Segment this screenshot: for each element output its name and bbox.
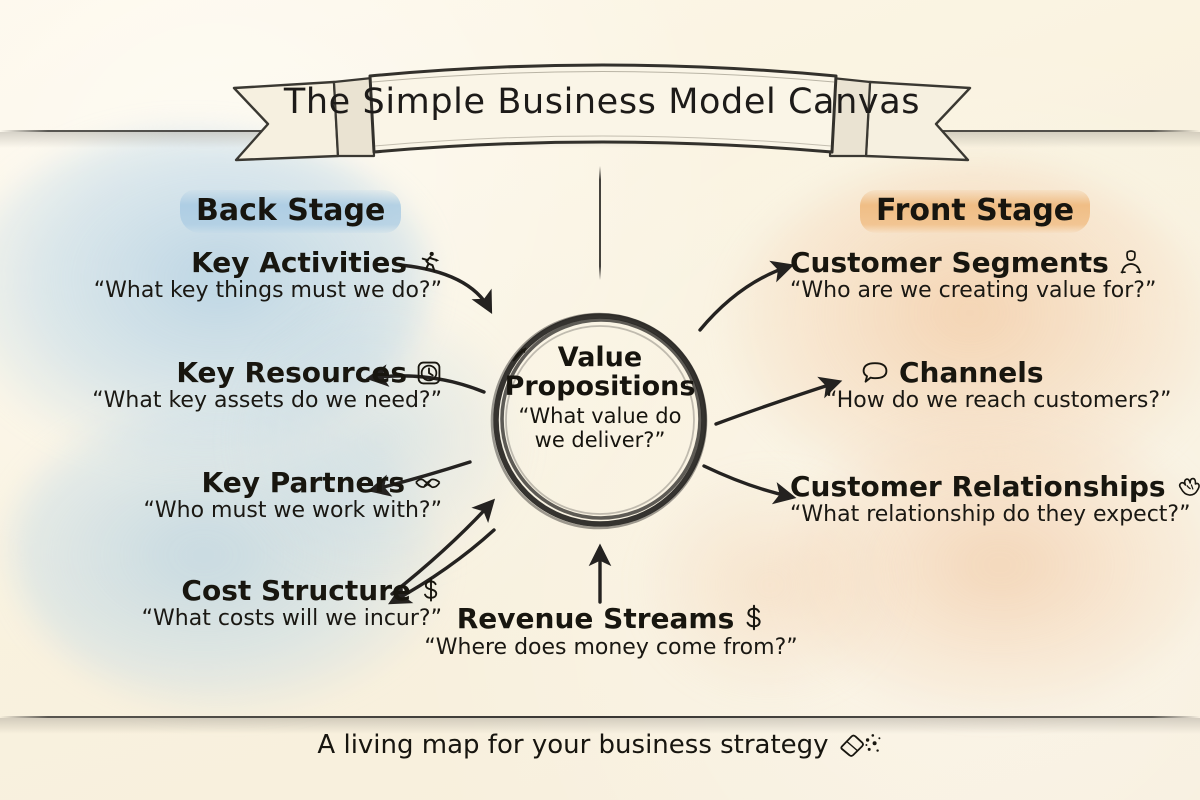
page-title: The Simple Business Model Canvas	[222, 52, 982, 152]
value-propositions-question-line2: we deliver?”	[509, 429, 691, 453]
block-key-activities[interactable]: Key Activities “What key things must we …	[70, 248, 442, 304]
channels-question: “How do we reach customers?”	[826, 389, 1171, 413]
business-model-canvas-diagram: The Simple Business Model Canvas Back St…	[0, 0, 1200, 800]
running-person-icon	[416, 250, 442, 276]
arrow-value-to-customer-segments	[700, 266, 790, 330]
back-stage-heading: Back Stage	[180, 190, 401, 233]
key-partners-question: “Who must we work with?”	[76, 499, 442, 523]
customer-segments-question: “Who are we creating value for?”	[790, 279, 1156, 303]
revenue-streams-question: “Where does money come from?”	[424, 636, 798, 660]
waving-hand-icon	[1175, 474, 1200, 500]
block-cost-structure[interactable]: Cost Structure “What costs will we incur…	[72, 576, 442, 632]
footer-tagline: A living map for your business strategy	[0, 728, 1200, 762]
cost-structure-label: Cost Structure	[181, 576, 411, 605]
key-resources-question: “What key assets do we need?”	[46, 389, 442, 413]
key-partners-label: Key Partners	[202, 468, 405, 497]
customer-segments-label: Customer Segments	[790, 248, 1109, 277]
block-channels[interactable]: Channels “How do we reach customers?”	[860, 358, 1171, 414]
back-stage-watercolor-wash	[10, 400, 440, 710]
key-activities-question: “What key things must we do?”	[70, 279, 442, 303]
key-resources-label: Key Resources	[176, 358, 407, 387]
back-stage-watercolor-wash	[230, 300, 530, 580]
customer-relationships-label: Customer Relationships	[790, 472, 1166, 501]
dollar-sign-icon	[420, 577, 442, 605]
bottom-divider-rule	[0, 716, 1200, 718]
speech-bubble-icon	[860, 360, 890, 386]
value-propositions-title-line1: Value	[509, 343, 691, 372]
customer-relationships-question: “What relationship do they expect?”	[790, 503, 1200, 527]
arrow-value-to-customer-relationships	[704, 466, 792, 497]
front-stage-watercolor-wash	[790, 420, 1200, 710]
person-icon	[1118, 249, 1144, 277]
block-revenue-streams[interactable]: Revenue Streams “Where does money come f…	[424, 604, 798, 660]
footer-text: A living map for your business strategy	[317, 730, 828, 760]
block-key-partners[interactable]: Key Partners “Who must we work with?”	[76, 468, 442, 524]
block-customer-relationships[interactable]: Customer Relationships “What relationshi…	[790, 472, 1200, 528]
value-propositions-title-line2: Propositions	[505, 372, 696, 401]
value-propositions-question-line1: “What value do	[509, 405, 691, 429]
arrow-value-to-channels	[716, 382, 838, 424]
title-banner: The Simple Business Model Canvas	[222, 52, 982, 170]
stage-divider-line	[599, 166, 601, 280]
revenue-streams-label: Revenue Streams	[457, 604, 734, 633]
block-key-resources[interactable]: Key Resources “What key assets do we nee…	[46, 358, 442, 414]
front-stage-heading: Front Stage	[860, 190, 1090, 233]
clock-icon	[416, 360, 442, 386]
value-propositions-node[interactable]: Value Propositions “What value do we del…	[487, 307, 713, 533]
key-activities-label: Key Activities	[191, 248, 407, 277]
dollar-sign-icon	[743, 604, 765, 634]
cost-structure-question: “What costs will we incur?”	[72, 607, 442, 631]
eraser-icon	[839, 728, 883, 762]
handshake-icon	[414, 470, 442, 496]
block-customer-segments[interactable]: Customer Segments “Who are we creating v…	[790, 248, 1156, 304]
arrow-target-icon	[509, 343, 531, 365]
channels-label: Channels	[899, 358, 1044, 387]
